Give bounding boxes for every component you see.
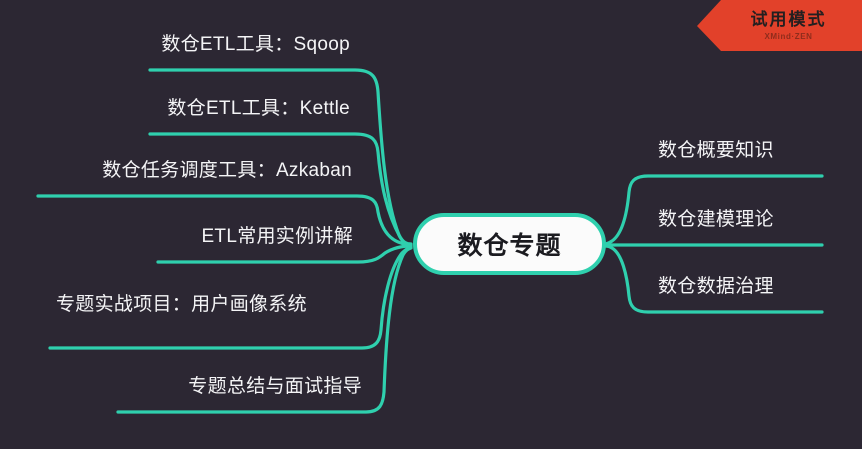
topic-right-overview[interactable]: 数仓概要知识 bbox=[658, 138, 858, 164]
mindmap-canvas: 数仓专题 数仓ETL工具：Sqoop 数仓ETL工具：Kettle 数仓任务调度… bbox=[0, 0, 862, 449]
topic-label: 数仓数据治理 bbox=[658, 276, 774, 297]
topic-label: 数仓任务调度工具：Azkaban bbox=[102, 160, 352, 181]
topic-left-sqoop[interactable]: 数仓ETL工具：Sqoop bbox=[60, 32, 350, 58]
topic-label: 数仓ETL工具：Kettle bbox=[167, 98, 350, 119]
topic-label: 数仓ETL工具：Sqoop bbox=[161, 34, 350, 55]
topic-label: 专题总结与面试指导 bbox=[188, 376, 362, 397]
topic-label: 数仓概要知识 bbox=[658, 140, 774, 161]
topic-left-etl-examples[interactable]: ETL常用实例讲解 bbox=[60, 224, 353, 250]
central-topic-label: 数仓专题 bbox=[457, 226, 561, 262]
topic-label: 专题实战项目：用户画像系统 bbox=[56, 294, 307, 315]
topic-label: ETL常用实例讲解 bbox=[201, 226, 353, 247]
topic-left-kettle[interactable]: 数仓ETL工具：Kettle bbox=[60, 96, 350, 122]
topic-left-user-profile-project[interactable]: 专题实战项目：用户画像系统 bbox=[56, 292, 358, 318]
topic-label: 数仓建模理论 bbox=[658, 209, 774, 230]
topic-right-modeling[interactable]: 数仓建模理论 bbox=[658, 207, 858, 233]
xmind-brand-label: XMind·ZEN bbox=[764, 31, 812, 42]
topic-left-azkaban[interactable]: 数仓任务调度工具：Azkaban bbox=[20, 158, 352, 184]
topic-right-governance[interactable]: 数仓数据治理 bbox=[658, 274, 858, 300]
trial-mode-label: 试用模式 bbox=[751, 10, 827, 29]
trial-mode-ribbon[interactable]: 试用模式 XMind·ZEN bbox=[697, 0, 862, 51]
topic-left-summary-interview[interactable]: 专题总结与面试指导 bbox=[70, 374, 362, 400]
central-topic[interactable]: 数仓专题 bbox=[413, 213, 606, 275]
